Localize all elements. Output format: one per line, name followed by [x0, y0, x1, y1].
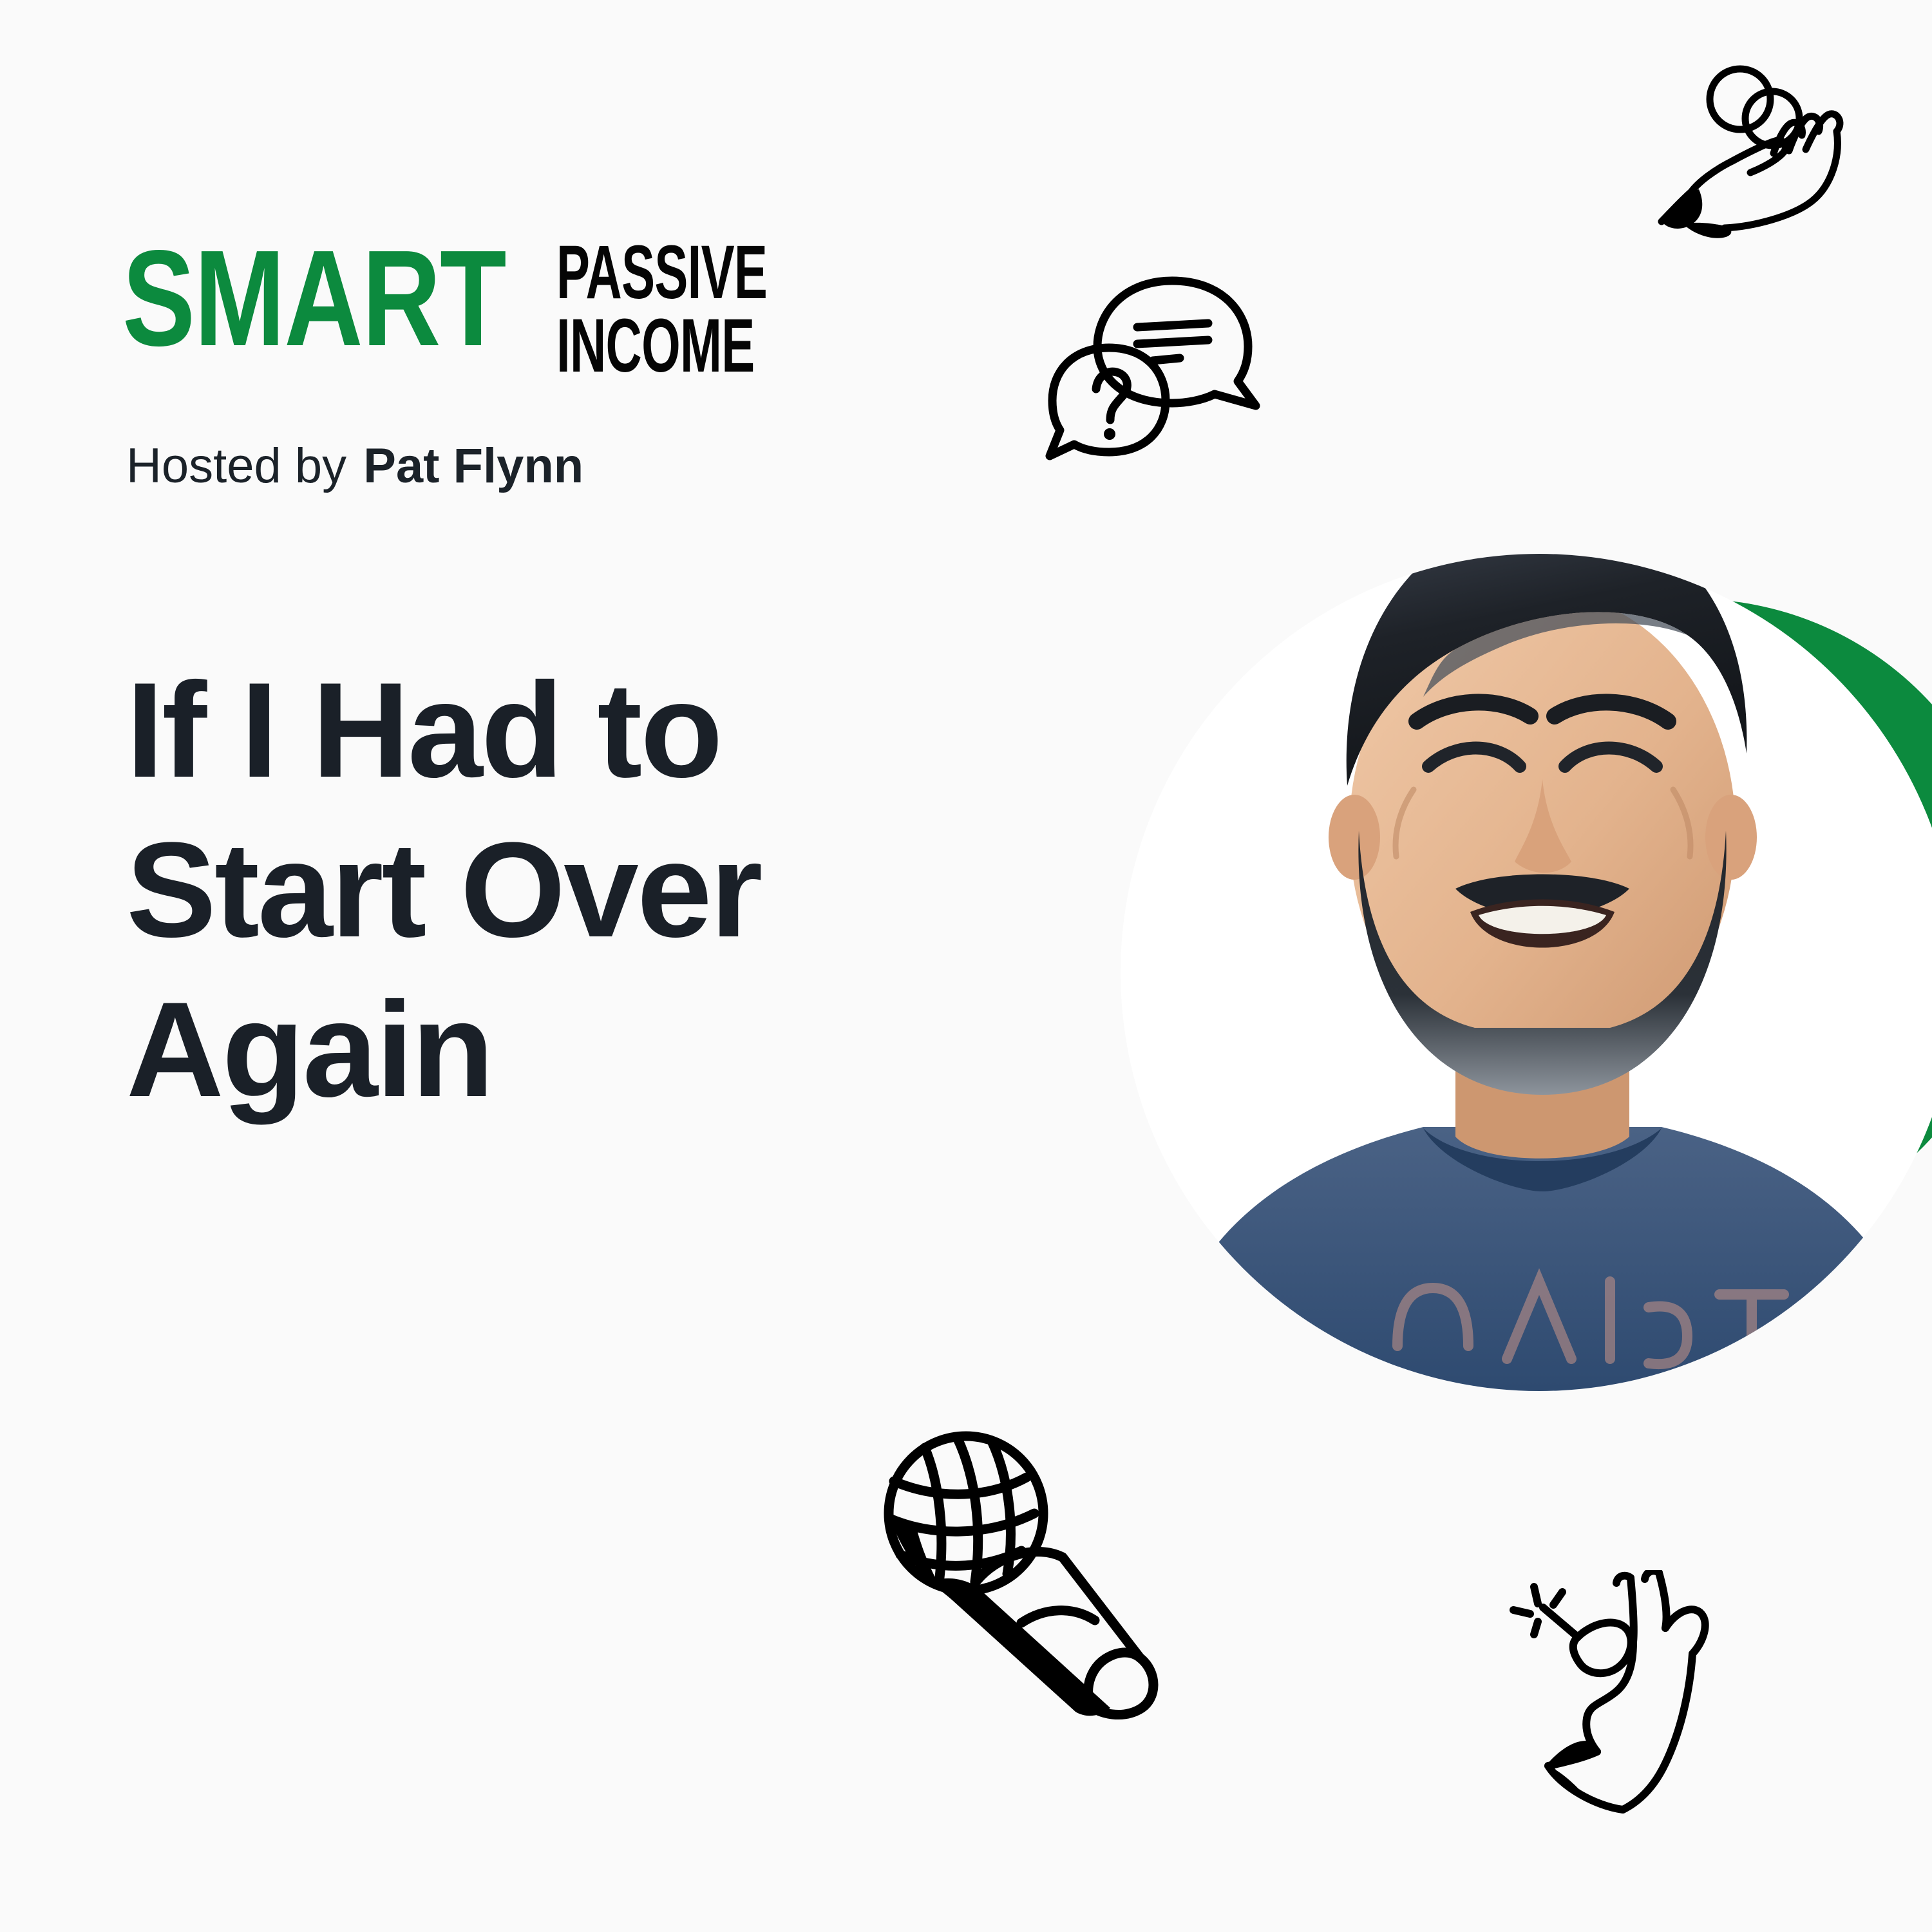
host-portrait — [1121, 444, 1932, 1391]
speech-bubbles-question-icon — [1036, 263, 1293, 469]
episode-title-line-2: Start Over — [126, 810, 1079, 970]
episode-title-line-1: If I Had to — [126, 650, 1079, 810]
logo-passive-income: PASSIVE INCOME — [556, 240, 767, 380]
logo-word-income: INCOME — [556, 313, 767, 380]
host-name: Pat Flynn — [363, 439, 583, 493]
hand-tossing-balls-icon — [1643, 59, 1901, 259]
logo-word-smart: SMART — [122, 240, 506, 357]
byline: Hosted byPat Flynn — [126, 442, 583, 491]
finger-snap-icon — [1506, 1570, 1763, 1828]
podcast-cover-art: SMART PASSIVE INCOME Hosted byPat Flynn … — [0, 0, 1932, 1932]
logo-word-passive: PASSIVE — [556, 240, 767, 307]
episode-title-line-3: Again — [126, 970, 1079, 1130]
byline-prefix: Hosted by — [126, 439, 346, 493]
spi-logo: SMART PASSIVE INCOME — [122, 240, 875, 380]
episode-title: If I Had to Start Over Again — [126, 650, 1079, 1129]
microphone-icon — [849, 1410, 1184, 1745]
